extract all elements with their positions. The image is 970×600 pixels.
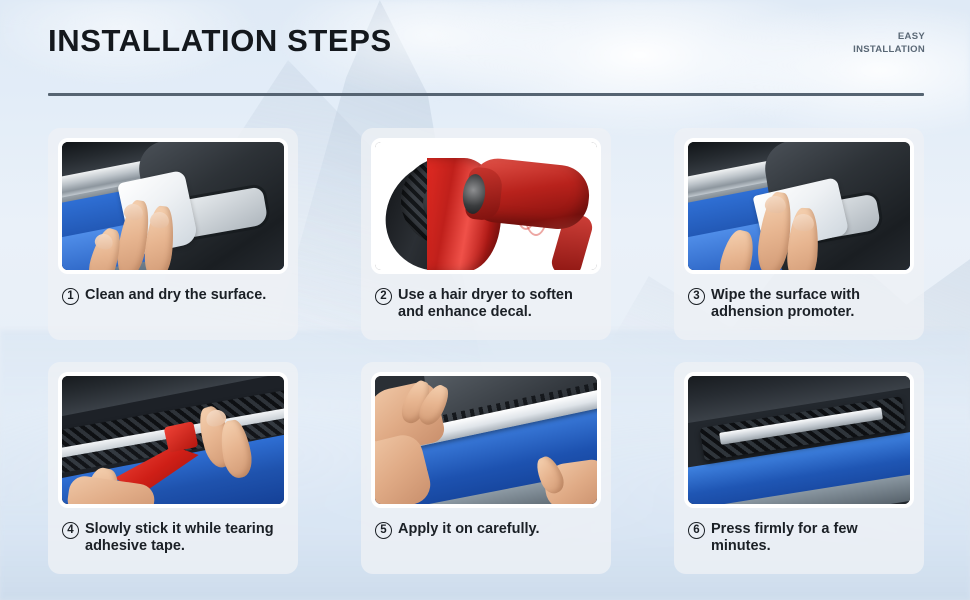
step-text-2: Use a hair dryer to soften and enhance d… xyxy=(398,287,599,321)
step-card-1: 1 Clean and dry the surface. xyxy=(48,128,298,340)
step-caption-1: 1 Clean and dry the surface. xyxy=(58,274,288,305)
step-number-2: 2 xyxy=(375,288,392,305)
step-card-5: 5 Apply it on carefully. xyxy=(361,362,611,574)
step-card-4: 4 Slowly stick it while tearing adhesive… xyxy=(48,362,298,574)
step-text-6: Press firmly for a few minutes. xyxy=(711,521,912,555)
step-number-4: 4 xyxy=(62,522,79,539)
step-caption-5: 5 Apply it on carefully. xyxy=(371,508,601,539)
tagline: EASY INSTALLATION xyxy=(853,30,925,56)
step-image-3 xyxy=(684,138,914,274)
tagline-line-2: INSTALLATION xyxy=(853,43,925,56)
step-image-1 xyxy=(58,138,288,274)
step-text-3: Wipe the surface with adhension promoter… xyxy=(711,287,912,321)
step-image-2 xyxy=(371,138,601,274)
step-caption-2: 2 Use a hair dryer to soften and enhance… xyxy=(371,274,601,321)
step-caption-4: 4 Slowly stick it while tearing adhesive… xyxy=(58,508,288,555)
step-card-6: 6 Press firmly for a few minutes. xyxy=(674,362,924,574)
step-image-5 xyxy=(371,372,601,508)
step-card-2: 2 Use a hair dryer to soften and enhance… xyxy=(361,128,611,340)
step-number-5: 5 xyxy=(375,522,392,539)
page-header: INSTALLATION STEPS EASY INSTALLATION xyxy=(0,0,970,100)
step-image-4 xyxy=(58,372,288,508)
tagline-line-1: EASY xyxy=(853,30,925,43)
step-text-1: Clean and dry the surface. xyxy=(85,287,286,304)
step-text-4: Slowly stick it while tearing adhesive t… xyxy=(85,521,286,555)
step-number-3: 3 xyxy=(688,288,705,305)
step-number-6: 6 xyxy=(688,522,705,539)
step-card-3: 3 Wipe the surface with adhension promot… xyxy=(674,128,924,340)
step-caption-6: 6 Press firmly for a few minutes. xyxy=(684,508,914,555)
header-divider xyxy=(48,93,924,96)
steps-grid: 1 Clean and dry the surface. xyxy=(48,128,924,574)
installation-steps-page: INSTALLATION STEPS EASY INSTALLATION xyxy=(0,0,970,600)
step-image-6 xyxy=(684,372,914,508)
step-text-5: Apply it on carefully. xyxy=(398,521,599,538)
step-number-1: 1 xyxy=(62,288,79,305)
page-title: INSTALLATION STEPS xyxy=(48,23,392,59)
step-caption-3: 3 Wipe the surface with adhension promot… xyxy=(684,274,914,321)
